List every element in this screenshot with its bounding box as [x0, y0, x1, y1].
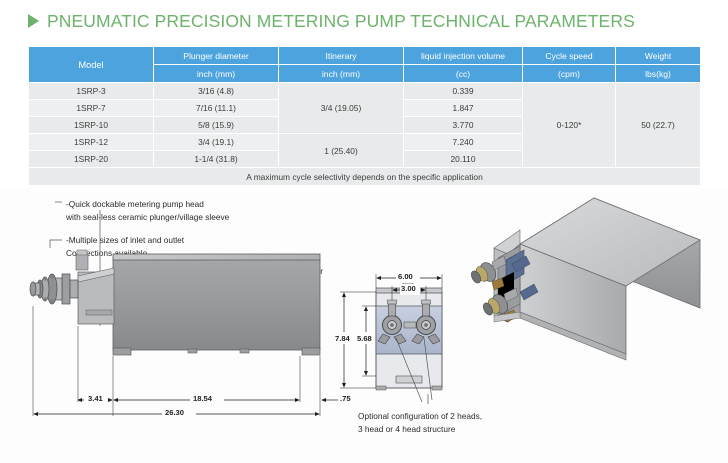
cell-model: 1SRP-3 [29, 83, 153, 99]
page-title-text: PNEUMATIC PRECISION METERING PUMP TECHNI… [47, 11, 635, 32]
dimension-front-width: 6.00 [398, 272, 413, 281]
dimension-side-right: .75 [340, 394, 351, 403]
cell-plunger: 3/4 (19.1) [154, 134, 278, 150]
product-diagram-panel: -Quick dockable metering pump head with … [0, 188, 728, 463]
front-view-drawing [376, 282, 442, 390]
dimension-front-height-total: 7.84 [335, 334, 350, 343]
cell-model: 1SRP-12 [29, 134, 153, 150]
column-unit-cycle-speed: (cpm) [523, 65, 615, 82]
column-header-liquid-injection-volume: liquid injection volume [404, 47, 522, 64]
column-header-model: Model [29, 47, 153, 82]
engineering-drawing [0, 188, 728, 463]
column-header-cycle-speed: Cycle speed [523, 47, 615, 64]
cell-model: 1SRP-10 [29, 117, 153, 133]
cell-plunger: 3/16 (4.8) [154, 83, 278, 99]
cell-cycle-speed: 0-120* [523, 83, 615, 167]
column-unit-weight: lbs(kg) [616, 65, 700, 82]
isometric-product-render [469, 198, 700, 360]
specifications-table: Model Plunger diameter Itinerary liquid … [28, 46, 701, 186]
table-row: 1SRP-3 3/16 (4.8) 3/4 (19.05) 0.339 0-12… [29, 83, 700, 99]
column-unit-itinerary: inch (mm) [279, 65, 403, 82]
cell-volume: 20.110 [404, 151, 522, 167]
table-header: Model Plunger diameter Itinerary liquid … [29, 47, 700, 82]
cell-volume: 3.770 [404, 117, 522, 133]
column-unit-plunger-diameter: inch (mm) [154, 65, 278, 82]
table-footer: A maximum cycle selectivity depends on t… [29, 168, 700, 185]
dimension-front-height-inner: 5.68 [357, 334, 372, 343]
dimension-front-center: 3.00 [401, 284, 416, 293]
table-header-row-1: Model Plunger diameter Itinerary liquid … [29, 47, 700, 64]
triangle-right-icon [28, 14, 39, 28]
cell-volume: 1.847 [404, 100, 522, 116]
cell-plunger: 7/16 (11.1) [154, 100, 278, 116]
cell-plunger: 1-1/4 (31.8) [154, 151, 278, 167]
side-view-drawing [30, 250, 320, 355]
column-header-itinerary: Itinerary [279, 47, 403, 64]
cell-model: 1SRP-20 [29, 151, 153, 167]
dimension-side-left: 3.41 [88, 394, 103, 403]
cell-volume: 0.339 [404, 83, 522, 99]
cell-volume: 7.240 [404, 134, 522, 150]
dimension-side-mid: 18.54 [193, 394, 212, 403]
dimension-side-total: 26.30 [165, 408, 184, 417]
column-header-plunger-diameter: Plunger diameter [154, 47, 278, 64]
cell-itinerary-group-2: 1 (25.40) [279, 134, 403, 167]
cell-model: 1SRP-7 [29, 100, 153, 116]
page-title: PNEUMATIC PRECISION METERING PUMP TECHNI… [28, 8, 700, 34]
table-body: 1SRP-3 3/16 (4.8) 3/4 (19.05) 0.339 0-12… [29, 83, 700, 167]
cell-plunger: 5/8 (15.9) [154, 117, 278, 133]
column-unit-liquid-injection-volume: (cc) [404, 65, 522, 82]
table-footnote-row: A maximum cycle selectivity depends on t… [29, 168, 700, 185]
cell-weight: 50 (22.7) [616, 83, 700, 167]
column-header-weight: Weight [616, 47, 700, 64]
cell-itinerary-group-1: 3/4 (19.05) [279, 83, 403, 133]
table-footnote: A maximum cycle selectivity depends on t… [29, 168, 700, 185]
